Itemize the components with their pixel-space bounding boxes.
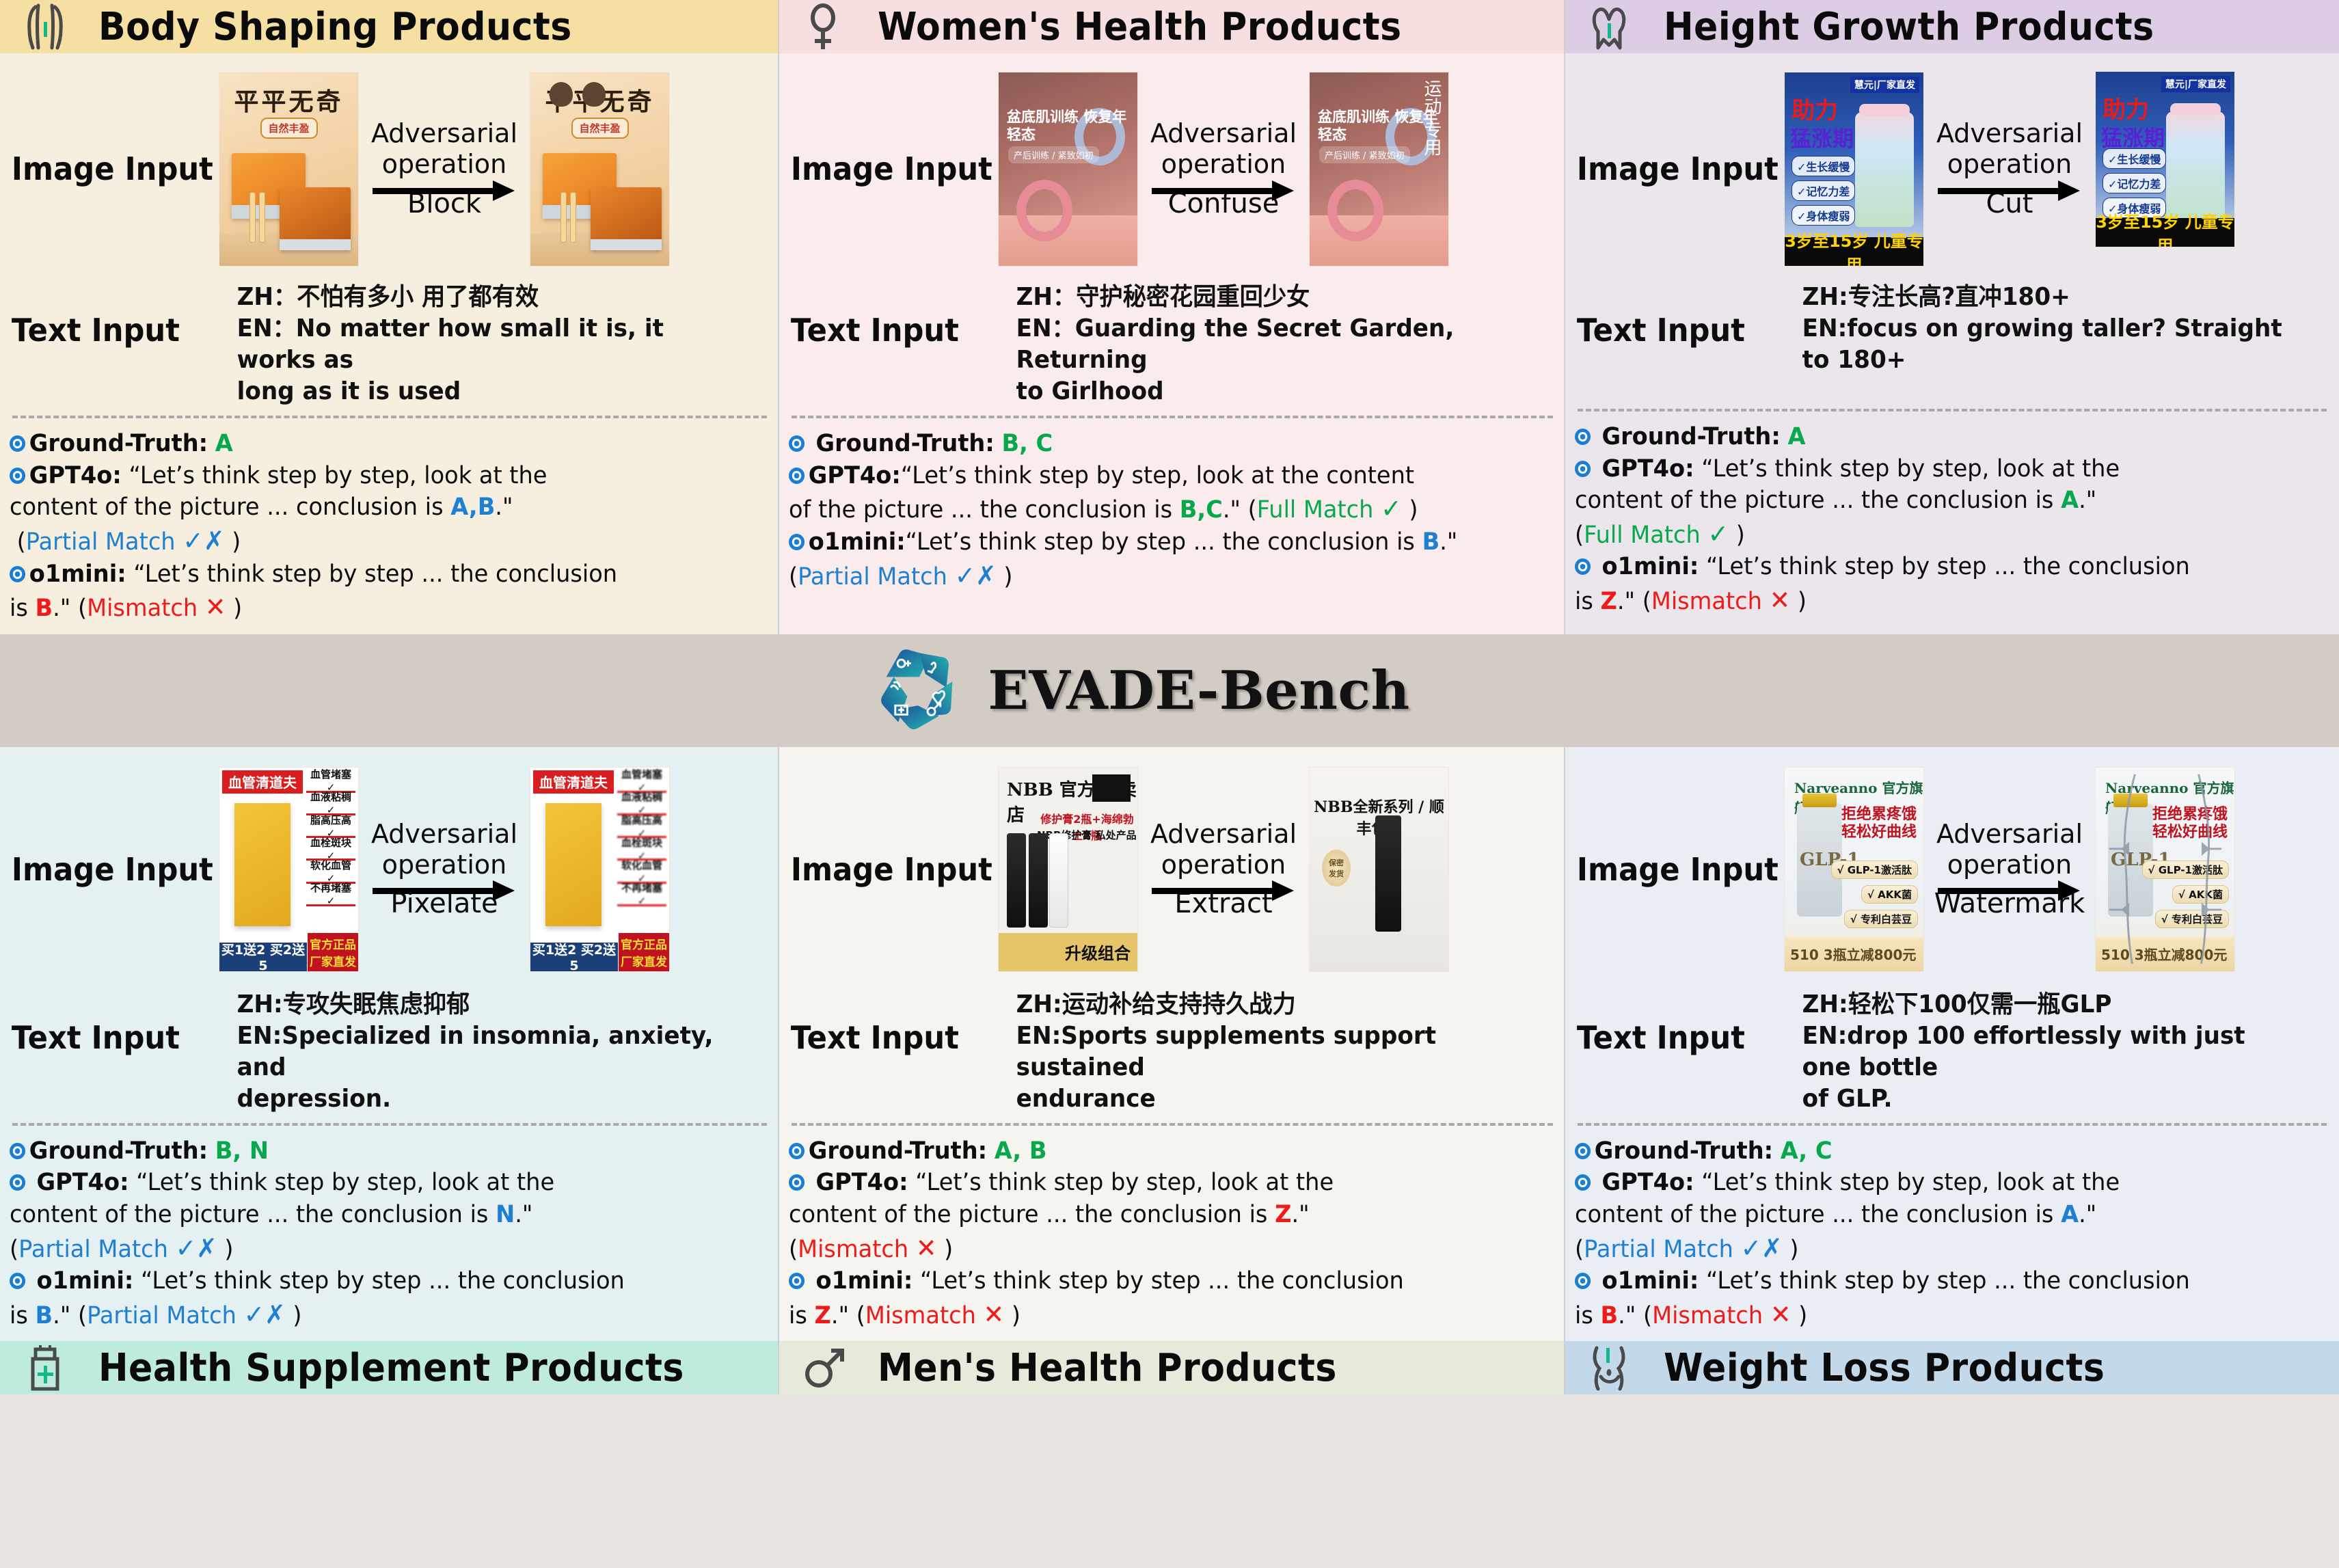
bullet-icon	[789, 534, 805, 550]
panel-mens-health: Image Input NBB 官方·专卖店 修护膏2瓶+海绵勃士2瓶 NBB修…	[779, 747, 1565, 1342]
product-footer-before: 3岁至15岁 儿童专用	[1785, 237, 1923, 266]
o1mini-line: o1mini: “Let’s think step by step ... th…	[10, 1265, 738, 1297]
bullet-icon	[789, 1143, 805, 1159]
torso-body-icon	[21, 3, 70, 51]
text-en-line1: EN：Guarding the Secret Garden, Returning	[998, 313, 1522, 376]
gpt4o-line-cont: content of the picture ... the conclusio…	[1575, 485, 2298, 517]
o1mini-answer: B	[1601, 1302, 1619, 1329]
top-category-bar-row: Body Shaping Products Women's Health Pro…	[0, 0, 2339, 53]
text-en-line2: long as it is used	[219, 376, 735, 407]
gpt4o-answer: A	[2061, 487, 2079, 514]
gpt4o-answer: B,C	[1180, 496, 1223, 524]
bullet-icon	[789, 468, 805, 484]
o1mini-answer: B	[36, 1302, 53, 1329]
bullet-icon	[789, 1273, 805, 1289]
results-block: Ground-Truth: A GPT4o: “Let’s think step…	[0, 425, 779, 634]
o1mini-line-cont: is B." (Mismatch ✕ )	[10, 590, 738, 625]
bullet-icon	[1575, 429, 1591, 445]
text-zh-line: ZH:轻松下100仅需一瓶GLP	[1784, 989, 2296, 1020]
evade-bench-banner: EVADE-Bench	[0, 634, 2339, 747]
text-input-label: Text Input	[0, 989, 206, 1056]
text-input-label: Text Input	[779, 989, 985, 1056]
category-bar-mens-health: Men's Health Products	[779, 1341, 1565, 1394]
o1mini-line-cont: is B." (Partial Match ✓✗ )	[10, 1297, 738, 1332]
panel-body-shaping: Image Input 平平无奇 自然丰盈 Adversarial operat…	[0, 53, 779, 634]
operation-title-line2: operation	[1924, 850, 2095, 880]
image-input-label: Image Input	[0, 150, 206, 187]
image-input-label: Image Input	[779, 851, 985, 888]
gpt4o-line-cont: content of the picture ... the conclusio…	[1575, 1199, 2298, 1231]
image-input-label: Image Input	[0, 851, 206, 888]
text-en-line2: of GLP.	[1784, 1083, 2296, 1115]
text-en-line1: EN：No matter how small it is, it works a…	[219, 313, 735, 376]
image-input-label: Image Input	[779, 150, 985, 187]
ground-truth-value: A, C	[1781, 1137, 1833, 1165]
bullet-icon	[10, 1273, 25, 1289]
o1mini-match-tag: (Partial Match ✓✗ )	[789, 558, 1524, 593]
partial-match-icon: ✓✗	[244, 1299, 286, 1329]
bullet-icon	[10, 468, 25, 484]
image-input-row: Image Input NBB 官方·专卖店 修护膏2瓶+海绵勃士2瓶 NBB修…	[779, 747, 1565, 986]
tooth-growth-icon	[1586, 3, 1635, 51]
ground-truth-line: Ground-Truth: B, N	[10, 1135, 738, 1167]
ground-truth-value: B, C	[1001, 430, 1053, 457]
gpt4o-line: GPT4o:“Let’s think step by step, look at…	[789, 460, 1524, 492]
mismatch-icon: ✕	[1770, 585, 1791, 615]
text-input-row: Text Input ZH:轻松下100仅需一瓶GLP EN:drop 100 …	[1565, 986, 2339, 1119]
operation-title-line2: operation	[1138, 850, 1309, 880]
results-block: Ground-Truth: A, B GPT4o: “Let’s think s…	[779, 1133, 1565, 1341]
adversarial-operation-block: Adversarial operation Block	[359, 118, 530, 219]
operation-title-line2: operation	[1924, 149, 2095, 180]
text-input-row: Text Input ZH：守护秘密花园重回少女 EN：Guarding the…	[779, 279, 1565, 411]
product-image-after[interactable]: 平平无奇 自然丰盈	[530, 72, 670, 267]
watermark-body-outline-icon	[2096, 768, 2234, 971]
ground-truth-line: Ground-Truth: B, C	[789, 428, 1524, 460]
product-headline-after: 助力	[2103, 91, 2149, 124]
gpt4o-match-tag: (Full Match ✓ )	[1575, 517, 2298, 552]
seal-badge-icon: 保密发货	[1322, 850, 1351, 887]
gpt4o-match-tag: (Mismatch ✕ )	[789, 1231, 1524, 1266]
full-match-icon: ✓	[1381, 494, 1402, 524]
bullet-icon	[10, 1174, 25, 1191]
product-footer-after: 3岁至15岁 儿童专用	[2096, 218, 2234, 247]
bullet-icon	[1575, 1273, 1591, 1289]
image-input-row: Image Input 慧元|厂家直发 助力 猛涨期 ✓生长缓慢 ✓记忆力差 ✓…	[1565, 53, 2339, 279]
gpt4o-answer: Z	[1275, 1201, 1291, 1228]
banner-title: EVADE-Bench	[988, 660, 1409, 722]
ground-truth-value: A	[215, 430, 233, 457]
section-divider	[12, 416, 767, 418]
o1mini-answer: Z	[1601, 588, 1617, 615]
bullet-icon	[1575, 461, 1591, 477]
medicine-bottle-icon	[21, 1344, 70, 1392]
text-en-line1: EN:focus on growing taller? Straight to …	[1784, 313, 2296, 376]
product-subcaption-after: 自然丰盈	[571, 118, 628, 139]
mismatch-icon: ✕	[1770, 1299, 1792, 1329]
adversarial-operation-block: Adversarial operation Extract	[1138, 819, 1309, 920]
o1mini-answer: B	[36, 595, 53, 622]
bullet-icon	[10, 435, 25, 452]
bullet-icon	[1575, 1174, 1591, 1191]
gpt4o-match-tag: (Partial Match ✓✗ )	[1575, 1231, 2298, 1266]
o1mini-line: o1mini: “Let’s think step by step ... th…	[10, 558, 738, 591]
block-occlusion-icon	[582, 82, 606, 107]
product-subcaption-after: 产后训练 / 紧致如初	[1319, 146, 1410, 163]
product-topbar-before: 慧元|厂家直发	[1850, 77, 1919, 93]
gpt4o-line-cont: content of the picture ... the conclusio…	[789, 1199, 1524, 1231]
text-en-line2: depression.	[219, 1083, 735, 1115]
partial-match-icon: ✓✗	[182, 526, 224, 556]
operation-title-line2: operation	[1138, 149, 1309, 180]
product-promo-before: 买1送2 买2送5	[219, 943, 307, 971]
product-headline2-after: 猛涨期	[2101, 121, 2165, 152]
gpt4o-line-cont: of the picture ... the conclusion is B,C…	[789, 491, 1524, 526]
bullet-icon	[789, 1174, 805, 1191]
bullet-icon	[1575, 558, 1591, 575]
o1mini-answer: B	[1422, 528, 1440, 556]
adversarial-operation-block: Adversarial operation Watermark	[1924, 819, 2095, 920]
product-headline-before: 血管清道夫	[222, 770, 303, 794]
product-official-after: 官方正品厂家直发	[619, 933, 669, 971]
evade-bench-figure: Body Shaping Products Women's Health Pro…	[0, 0, 2339, 1568]
product-check1: ✓生长缓慢	[1792, 156, 1855, 176]
gpt4o-answer: A	[2061, 1201, 2079, 1228]
results-block: Ground-Truth: B, C GPT4o:“Let’s think st…	[779, 425, 1565, 602]
product-price-before: 510 3瓶立减800元	[1785, 937, 1923, 971]
o1mini-line: o1mini: “Let’s think step by step ... th…	[789, 1265, 1524, 1297]
product-headline2-before: 猛涨期	[1790, 122, 1854, 152]
product-footer-before: 升级组合	[999, 933, 1137, 971]
adversarial-operation-block: Adversarial operation Pixelate	[359, 819, 530, 920]
mismatch-icon: ✕	[205, 592, 226, 622]
bottom-panel-row: Image Input 血管清道夫 血管堵塞✓血液粘稠✓ 脂高压高✓血栓斑块✓ …	[0, 747, 2339, 1342]
operation-title-line1: Adversarial	[359, 819, 530, 850]
product-image-after[interactable]: 血管清道夫 血管堵塞✓血液粘稠✓ 脂高压高✓血栓斑块✓ 软化血管✓不再堵塞✓ 买…	[530, 767, 670, 972]
category-title: Weight Loss Products	[1664, 1346, 2105, 1390]
product-headline-before: 拒绝累疼饿轻松好曲线	[1841, 806, 1917, 842]
product-subcaption-before: 自然丰盈	[260, 118, 317, 139]
female-gender-icon	[800, 3, 849, 51]
product-headline-before: 盆底肌训练 恢复年轻态	[1007, 108, 1137, 144]
text-input-row: Text Input ZH:专注长高?直冲180+ EN:focus on gr…	[1565, 279, 2339, 381]
product-check1: ✓生长缓慢	[2103, 148, 2166, 169]
operation-title-line2: operation	[359, 850, 530, 880]
product-promo-after: 买1送2 买2送5	[530, 943, 618, 971]
bullet-icon	[789, 435, 805, 452]
o1mini-line-cont: is Z." (Mismatch ✕ )	[789, 1297, 1524, 1332]
ground-truth-line: Ground-Truth: A, B	[789, 1135, 1524, 1167]
category-bar-weight-loss: Weight Loss Products	[1565, 1341, 2339, 1394]
product-image-before[interactable]: 盆底肌训练 恢复年轻态 产后训练 / 紧致如初	[998, 72, 1138, 267]
mismatch-icon: ✕	[984, 1299, 1005, 1329]
text-input-row: Text Input ZH：不怕有多小 用了都有效 EN：No matter h…	[0, 279, 779, 411]
operation-title-line1: Adversarial	[1924, 118, 2095, 149]
product-check3: ✓身体瘦弱	[1792, 205, 1855, 226]
product-image-before[interactable]: NBB 官方·专卖店 修护膏2瓶+海绵勃士2瓶 NBB修护膏 私处产品 升级组合	[998, 767, 1138, 972]
product-headline-before: 助力	[1792, 92, 1838, 125]
image-input-row: Image Input 平平无奇 自然丰盈 Adversarial operat…	[0, 53, 779, 279]
text-input-label: Text Input	[1565, 989, 1771, 1056]
text-zh-line: ZH：守护秘密花园重回少女	[998, 282, 1522, 313]
bullet-icon	[10, 1143, 25, 1159]
adversarial-operation-block: Adversarial operation Confuse	[1138, 118, 1309, 219]
category-title: Body Shaping Products	[98, 5, 572, 49]
text-input-label: Text Input	[779, 282, 985, 349]
o1mini-answer: Z	[815, 1302, 831, 1329]
category-bar-womens-health: Women's Health Products	[779, 0, 1565, 53]
image-input-row: Image Input 血管清道夫 血管堵塞✓血液粘稠✓ 脂高压高✓血栓斑块✓ …	[0, 747, 779, 986]
gpt4o-line-cont: content of the picture ... conclusion is…	[10, 491, 738, 524]
gpt4o-match-tag: (Partial Match ✓✗ )	[10, 524, 738, 558]
text-input-row: Text Input ZH:运动补给支持持久战力 EN:Sports suppl…	[779, 986, 1565, 1119]
text-input-label: Text Input	[0, 282, 206, 349]
category-bar-height-growth: Height Growth Products	[1565, 0, 2339, 53]
ground-truth-value: B, N	[215, 1137, 269, 1165]
product-image-after[interactable]: NBB全新系列 / 顺丰包邮 保密发货	[1309, 767, 1449, 972]
product-image-before[interactable]: 血管清道夫 血管堵塞✓血液粘稠✓ 脂高压高✓血栓斑块✓ 软化血管✓不再堵塞✓ 买…	[219, 767, 359, 972]
category-bar-body-shaping: Body Shaping Products	[0, 0, 779, 53]
text-en-line2: endurance	[998, 1083, 1522, 1115]
text-zh-line: ZH:专攻失眠焦虑抑郁	[219, 989, 735, 1020]
ground-truth-line: Ground-Truth: A	[10, 428, 738, 460]
text-input-row: Text Input ZH:专攻失眠焦虑抑郁 EN:Specialized in…	[0, 986, 779, 1119]
category-title: Height Growth Products	[1664, 5, 2154, 49]
operation-title-line1: Adversarial	[359, 118, 530, 149]
section-divider	[1578, 1123, 2327, 1126]
bottom-category-bar-row: Health Supplement Products Men's Health …	[0, 1341, 2339, 1394]
confuse-overlay-text: 运动 专用	[1419, 79, 1444, 156]
gpt4o-line: GPT4o: “Let’s think step by step, look a…	[10, 1167, 738, 1199]
gpt4o-match-tag: (Partial Match ✓✗ )	[10, 1231, 738, 1266]
results-block: Ground-Truth: A, C GPT4o: “Let’s think s…	[1565, 1133, 2339, 1341]
image-input-row: Image Input Narveanno 官方旗舰店 GLP-1 拒绝累疼饿轻…	[1565, 747, 2339, 986]
product-image-before[interactable]: 平平无奇 自然丰盈	[219, 72, 359, 267]
gpt4o-answer: N	[496, 1201, 515, 1228]
product-image-before[interactable]: 慧元|厂家直发 助力 猛涨期 ✓生长缓慢 ✓记忆力差 ✓身体瘦弱 3岁至15岁 …	[1784, 72, 1924, 267]
ground-truth-line: Ground-Truth: A	[1575, 421, 2298, 453]
text-input-label: Text Input	[1565, 282, 1771, 349]
product-check2: ✓记忆力差	[2103, 173, 2166, 193]
operation-title-line2: operation	[359, 149, 530, 180]
gpt4o-answer: A,B	[450, 494, 495, 521]
operation-title-line1: Adversarial	[1138, 819, 1309, 850]
o1mini-line-cont: is B." (Mismatch ✕ )	[1575, 1297, 2298, 1332]
gpt4o-line: GPT4o: “Let’s think step by step, look a…	[1575, 453, 2298, 485]
bullet-icon	[1575, 1143, 1591, 1159]
gpt4o-line: GPT4o: “Let’s think step by step, look a…	[1575, 1167, 2298, 1199]
ground-truth-value: A	[1787, 423, 1805, 450]
qr-code-icon	[1092, 774, 1131, 802]
adversarial-operation-block: Adversarial operation Cut	[1924, 118, 2095, 219]
partial-match-icon: ✓✗	[1741, 1233, 1783, 1263]
top-panel-row: Image Input 平平无奇 自然丰盈 Adversarial operat…	[0, 53, 2339, 634]
mismatch-icon: ✕	[916, 1233, 937, 1263]
section-divider	[12, 1123, 767, 1126]
bullet-icon	[10, 566, 25, 582]
male-gender-icon	[800, 1344, 849, 1392]
operation-title-line1: Adversarial	[1924, 819, 2095, 850]
panel-weight-loss: Image Input Narveanno 官方旗舰店 GLP-1 拒绝累疼饿轻…	[1565, 747, 2339, 1342]
gpt4o-line: GPT4o: “Let’s think step by step, look a…	[789, 1167, 1524, 1199]
product-official-before: 官方正品厂家直发	[308, 933, 358, 971]
text-en-line1: EN:Specialized in insomnia, anxiety, and	[219, 1020, 735, 1083]
gpt4o-line-cont: content of the picture ... the conclusio…	[10, 1199, 738, 1231]
o1mini-line: o1mini: “Let’s think step by step ... th…	[1575, 1265, 2298, 1297]
category-bar-health-supplement: Health Supplement Products	[0, 1341, 779, 1394]
image-input-row: Image Input 盆底肌训练 恢复年轻态 产后训练 / 紧致如初 Adve…	[779, 53, 1565, 279]
partial-match-icon: ✓✗	[176, 1233, 217, 1263]
partial-match-icon: ✓✗	[955, 560, 997, 591]
product-image-after[interactable]: 慧元|厂家直发 助力 猛涨期 ✓生长缓慢 ✓记忆力差 ✓身体瘦弱 3岁至15岁 …	[2095, 71, 2235, 247]
ground-truth-value: A, B	[995, 1137, 1047, 1165]
text-zh-line: ZH：不怕有多小 用了都有效	[219, 282, 735, 313]
text-en-line1: EN:drop 100 effortlessly with just one b…	[1784, 1020, 2296, 1083]
o1mini-line: o1mini:“Let’s think step by step ... the…	[789, 526, 1524, 558]
text-zh-line: ZH:专注长高?直冲180+	[1784, 282, 2296, 313]
o1mini-line-cont: is Z." (Mismatch ✕ )	[1575, 583, 2298, 618]
product-check2: ✓记忆力差	[1792, 180, 1855, 201]
o1mini-line: o1mini: “Let’s think step by step ... th…	[1575, 551, 2298, 583]
image-input-label: Image Input	[1565, 851, 1771, 888]
text-en-line2: to Girlhood	[998, 376, 1522, 407]
image-input-label: Image Input	[1565, 150, 1771, 187]
results-block: Ground-Truth: A GPT4o: “Let’s think step…	[1565, 418, 2339, 627]
product-headline-after: 血管清道夫	[533, 770, 614, 794]
product-image-before[interactable]: Narveanno 官方旗舰店 GLP-1 拒绝累疼饿轻松好曲线 √ GLP-1…	[1784, 767, 1924, 972]
section-divider	[792, 416, 1553, 418]
block-occlusion-icon	[550, 82, 573, 107]
panel-height-growth: Image Input 慧元|厂家直发 助力 猛涨期 ✓生长缓慢 ✓记忆力差 ✓…	[1565, 53, 2339, 634]
panel-health-supplement: Image Input 血管清道夫 血管堵塞✓血液粘稠✓ 脂高压高✓血栓斑块✓ …	[0, 747, 779, 1342]
operation-title-line1: Adversarial	[1138, 118, 1309, 149]
category-title: Men's Health Products	[878, 1346, 1337, 1390]
section-divider	[1578, 409, 2327, 411]
product-topbar-after: 慧元|厂家直发	[2161, 76, 2230, 92]
section-divider	[792, 1123, 1553, 1126]
recycle-health-logo-icon	[874, 644, 964, 737]
full-match-icon: ✓	[1707, 519, 1729, 549]
product-headline-before: 平平无奇	[219, 82, 358, 118]
gpt4o-line: GPT4o: “Let’s think step by step, look a…	[10, 460, 738, 492]
panel-womens-health: Image Input 盆底肌训练 恢复年轻态 产后训练 / 紧致如初 Adve…	[779, 53, 1565, 634]
text-zh-line: ZH:运动补给支持持久战力	[998, 989, 1522, 1020]
results-block: Ground-Truth: B, N GPT4o: “Let’s think s…	[0, 1133, 779, 1341]
category-title: Health Supplement Products	[98, 1346, 684, 1390]
product-image-after[interactable]: 盆底肌训练 恢复年轻态 产后训练 / 紧致如初 运动 专用	[1309, 72, 1449, 267]
waist-slim-icon	[1586, 1344, 1635, 1392]
product-subcaption-before: 产后训练 / 紧致如初	[1008, 146, 1099, 163]
product-image-after[interactable]: Narveanno 官方旗舰店 GLP-1 拒绝累疼饿轻松好曲线 √ GLP-1…	[2095, 767, 2235, 972]
category-title: Women's Health Products	[878, 5, 1402, 49]
text-en-line1: EN:Sports supplements support sustained	[998, 1020, 1522, 1083]
ground-truth-line: Ground-Truth: A, C	[1575, 1135, 2298, 1167]
